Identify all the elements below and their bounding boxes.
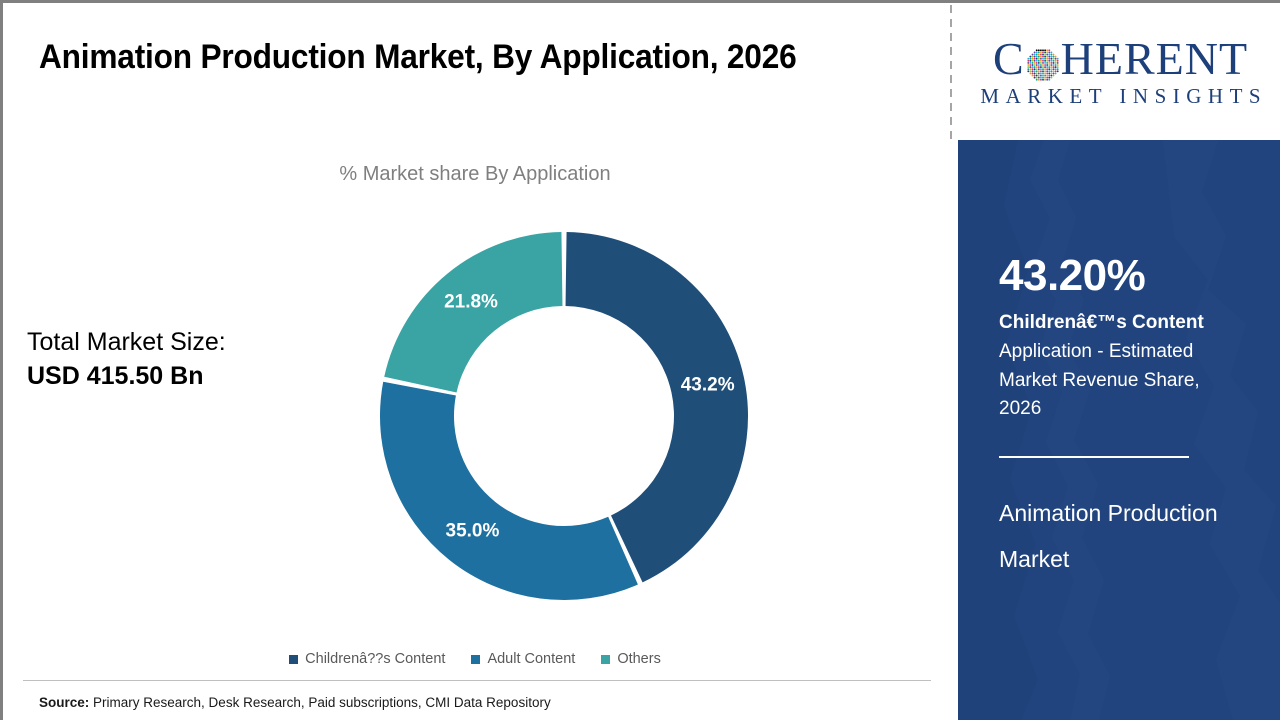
legend-swatch-icon bbox=[471, 655, 480, 664]
highlight-stat-panel: 43.20% Childrenâ€™s Content Application … bbox=[958, 140, 1280, 720]
legend-item[interactable]: Childrenâ??s Content bbox=[289, 651, 445, 667]
logo-letters-herent: HERENT bbox=[1061, 36, 1248, 82]
logo-wordmark: C HERENT bbox=[971, 36, 1271, 82]
source-label: Source: bbox=[39, 695, 89, 710]
globe-icon bbox=[1026, 44, 1060, 78]
donut-slice-label: 43.2% bbox=[681, 374, 735, 395]
stat-title: Childrenâ€™s Content bbox=[999, 311, 1280, 336]
brand-logo-area: C HERENT MARKET INSIGHTS bbox=[958, 3, 1280, 140]
donut-chart-svg: 43.2%35.0%21.8% bbox=[380, 232, 748, 600]
donut-slice[interactable] bbox=[380, 382, 638, 600]
vertical-dashed-divider bbox=[950, 5, 952, 140]
panel-market-name: Animation Production Market bbox=[999, 491, 1280, 582]
chart-legend: Childrenâ??s ContentAdult ContentOthers bbox=[3, 651, 947, 667]
logo-tagline: MARKET INSIGHTS bbox=[971, 86, 1271, 107]
legend-swatch-icon bbox=[601, 655, 610, 664]
stat-content: 43.20% Childrenâ€™s Content Application … bbox=[958, 140, 1280, 582]
infographic-slide: Animation Production Market, By Applicat… bbox=[0, 0, 1280, 720]
legend-label: Adult Content bbox=[487, 651, 575, 667]
total-market-size-block: Total Market Size: USD 415.50 Bn bbox=[27, 326, 357, 393]
donut-slice-label: 21.8% bbox=[444, 292, 498, 313]
stat-description: Application - Estimated Market Revenue S… bbox=[999, 338, 1231, 425]
coherent-market-insights-logo: C HERENT MARKET INSIGHTS bbox=[971, 36, 1271, 107]
total-market-size-label: Total Market Size: bbox=[27, 326, 357, 360]
legend-label: Others bbox=[617, 651, 661, 667]
source-divider bbox=[23, 680, 931, 681]
source-note: Source: Primary Research, Desk Research,… bbox=[39, 695, 551, 710]
panel-divider-rule bbox=[999, 456, 1189, 458]
legend-item[interactable]: Adult Content bbox=[471, 651, 575, 667]
total-market-size-value: USD 415.50 Bn bbox=[27, 360, 357, 394]
donut-slice-label: 35.0% bbox=[446, 521, 500, 542]
left-content-panel: Animation Production Market, By Applicat… bbox=[3, 3, 947, 720]
chart-subtitle: % Market share By Application bbox=[3, 163, 947, 186]
donut-chart: 43.2%35.0%21.8% bbox=[380, 232, 748, 600]
stat-value: 43.20% bbox=[999, 254, 1280, 298]
legend-label: Childrenâ??s Content bbox=[305, 651, 445, 667]
legend-item[interactable]: Others bbox=[601, 651, 661, 667]
source-text: Primary Research, Desk Research, Paid su… bbox=[93, 695, 551, 710]
page-title: Animation Production Market, By Applicat… bbox=[39, 33, 830, 82]
logo-letter-c: C bbox=[993, 36, 1025, 82]
legend-swatch-icon bbox=[289, 655, 298, 664]
donut-slice-group bbox=[380, 232, 748, 600]
